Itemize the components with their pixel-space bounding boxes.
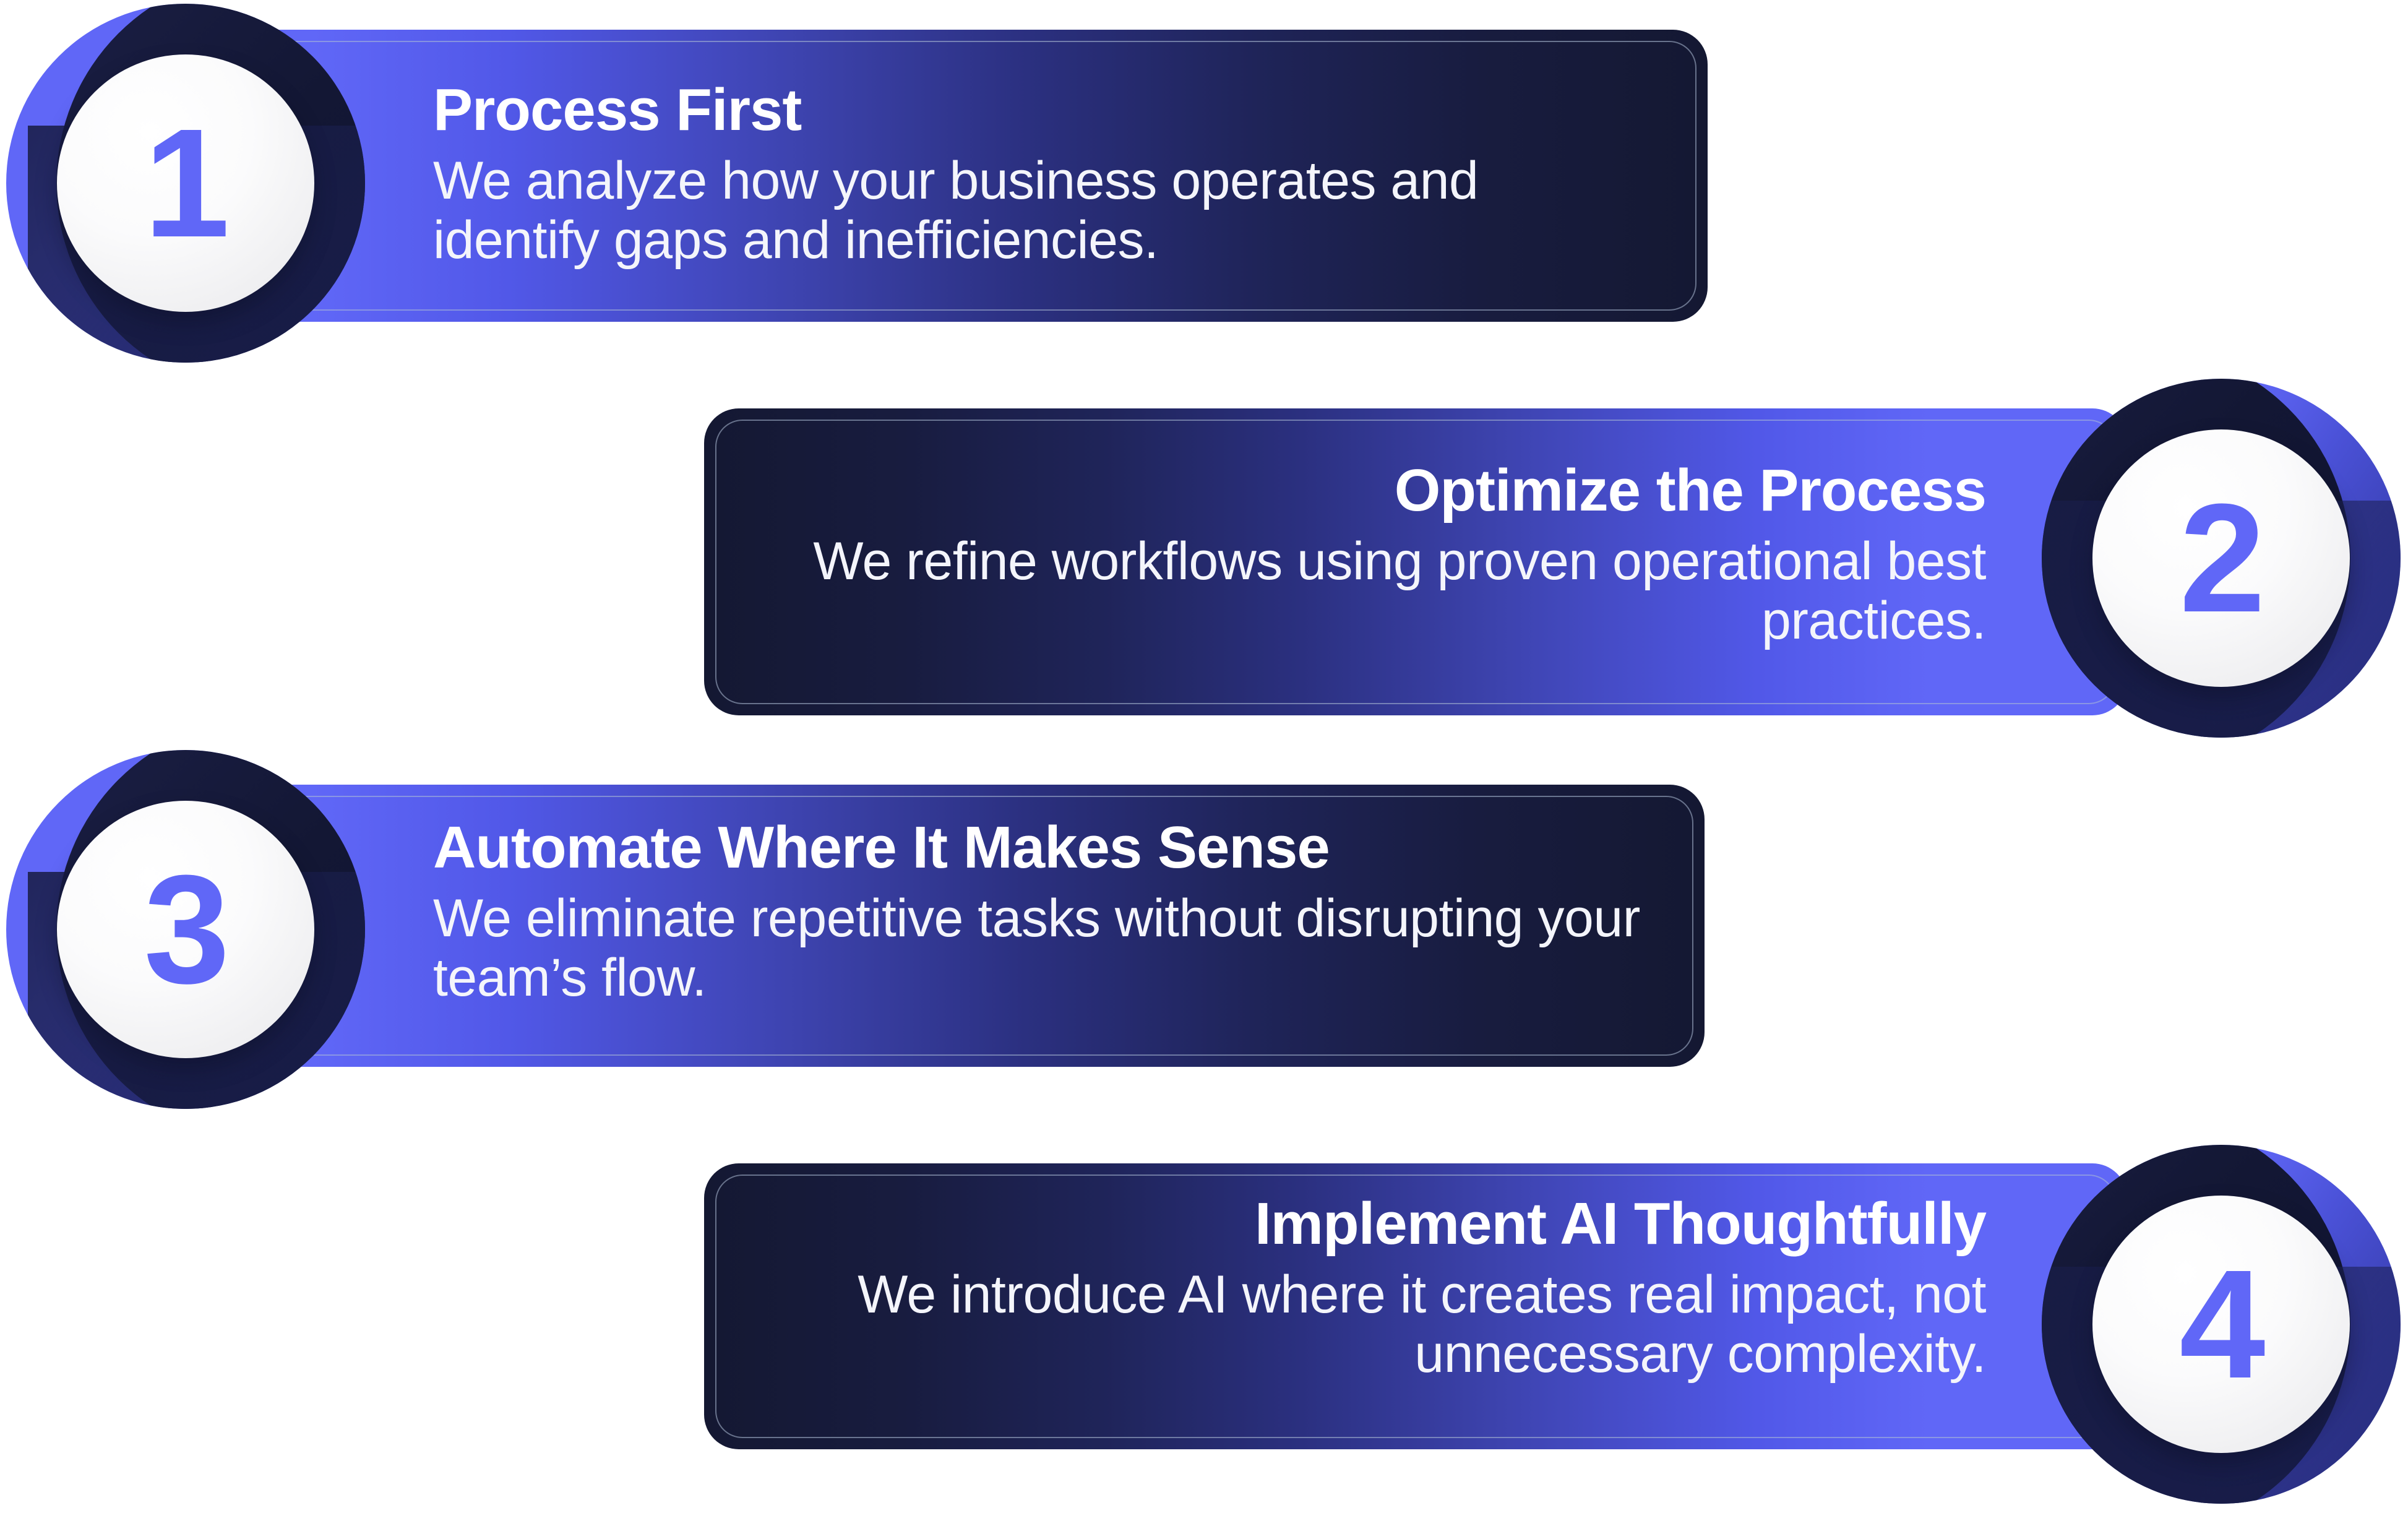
step-text-2: Optimize the Process We refine workflows… <box>792 461 1986 651</box>
step-badge-4[interactable]: 4 <box>2042 1145 2401 1504</box>
badge-number-1: 1 <box>144 106 227 261</box>
step-description-1: We analyze how your business operates an… <box>433 151 1627 270</box>
step-title-4: Implement AI Thoughtfully <box>792 1194 1986 1254</box>
badge-number-4: 4 <box>2179 1247 2263 1402</box>
step-title-1: Process First <box>433 80 1627 140</box>
step-badge-3[interactable]: 3 <box>6 750 365 1109</box>
step-description-4: We introduce AI where it creates real im… <box>792 1265 1986 1384</box>
badge-number-3: 3 <box>144 852 227 1007</box>
step-title-3: Automate Where It Makes Sense <box>433 818 1664 877</box>
badge-disc-3: 3 <box>57 801 314 1058</box>
infographic-canvas: Process First We analyze how your busine… <box>0 0 2408 1513</box>
step-text-4: Implement AI Thoughtfully We introduce A… <box>792 1194 1986 1384</box>
step-text-3: Automate Where It Makes Sense We elimina… <box>433 818 1664 1008</box>
badge-disc-2: 2 <box>2092 429 2350 687</box>
step-badge-2[interactable]: 2 <box>2042 379 2401 738</box>
step-badge-1[interactable]: 1 <box>6 4 365 363</box>
step-title-2: Optimize the Process <box>792 461 1986 520</box>
badge-number-2: 2 <box>2179 481 2263 636</box>
step-text-1: Process First We analyze how your busine… <box>433 80 1627 270</box>
step-description-3: We eliminate repetitive tasks without di… <box>433 889 1664 1008</box>
step-description-2: We refine workflows using proven operati… <box>792 532 1986 651</box>
badge-disc-4: 4 <box>2092 1196 2350 1453</box>
badge-disc-1: 1 <box>57 54 314 312</box>
